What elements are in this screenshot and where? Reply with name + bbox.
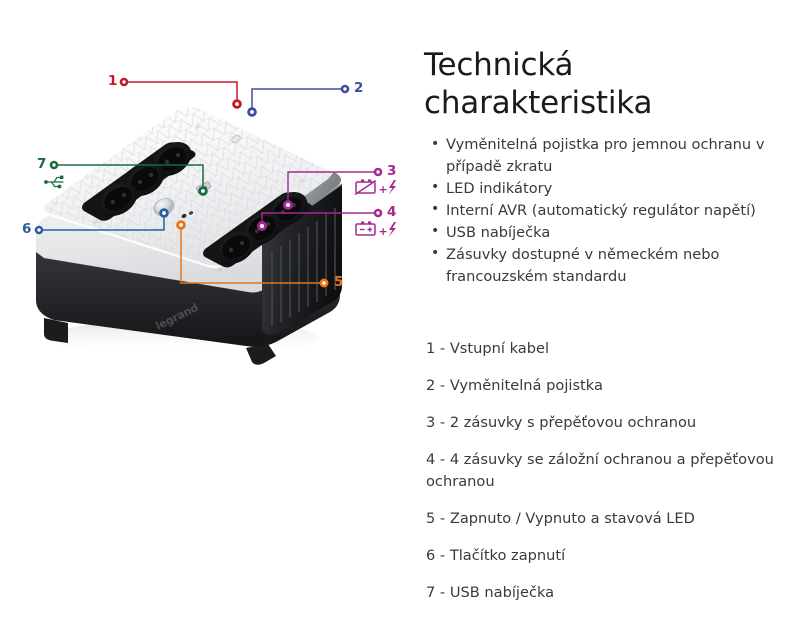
callout-dot-4-end <box>257 221 267 231</box>
feature-list-item: Zásuvky dostupné v německém nebo francou… <box>427 244 799 287</box>
legend-item-1: 1 - Vstupní kabel <box>426 338 800 359</box>
callout-leader-1 <box>126 82 237 101</box>
legend-item-2: 2 - Vyměnitelná pojistka <box>426 375 800 396</box>
legend-item-5: 5 - Zapnuto / Vypnuto a stavová LED <box>426 508 800 529</box>
specification-text-panel: Technická charakteristika Vyměnitelná po… <box>424 0 800 640</box>
battery-surge-icon: + <box>356 221 396 238</box>
feature-list: Vyměnitelná pojistka pro jemnou ochranu … <box>427 134 799 288</box>
product-illustration-panel: FR FR DE DE legrand <box>0 0 410 640</box>
legend-item-6: 6 - Tlačítko zapnutí <box>426 545 800 566</box>
callout-dot-2-start <box>341 85 350 94</box>
callout-label-3[interactable]: 3 <box>387 165 396 179</box>
callout-label-2[interactable]: 2 <box>354 82 363 96</box>
legend-item-7: 7 - USB nabíječka <box>426 582 800 603</box>
product-spec-page: FR FR DE DE legrand <box>0 0 800 640</box>
feature-list-item: LED indikátory <box>427 178 799 200</box>
svg-text:+: + <box>379 183 388 196</box>
callout-dot-6-end <box>159 208 169 218</box>
svg-text:+: + <box>379 225 388 238</box>
callout-label-1[interactable]: 1 <box>108 75 117 89</box>
ups-device-drawing: FR FR DE DE legrand <box>0 0 410 400</box>
callout-leader-2 <box>252 89 343 110</box>
legend-item-3: 3 - 2 zásuvky s přepěťovou ochranou <box>426 412 800 433</box>
surge-only-icon: + <box>355 179 396 196</box>
callout-dot-3-end <box>283 200 293 210</box>
usb-charger-icon <box>44 176 63 189</box>
feature-list-item: Interní AVR (automatický regulátor napět… <box>427 200 799 222</box>
feature-list-item: Vyměnitelná pojistka pro jemnou ochranu … <box>427 134 799 177</box>
callout-label-6[interactable]: 6 <box>22 223 31 237</box>
callout-dot-1-start <box>120 78 129 87</box>
callout-dot-1-end <box>232 99 242 109</box>
callout-legend-list: 1 - Vstupní kabel 2 - Vyměnitelná pojist… <box>426 338 800 619</box>
ups-product-figure: FR FR DE DE legrand <box>0 0 410 400</box>
callout-label-4[interactable]: 4 <box>387 206 396 220</box>
callout-dot-4-start <box>374 209 383 218</box>
callout-label-7[interactable]: 7 <box>37 158 46 172</box>
callout-dot-7-start <box>50 161 59 170</box>
legend-item-4: 4 - 4 zásuvky se záložní ochranou a přep… <box>426 449 800 491</box>
callout-dot-6-start <box>35 226 44 235</box>
feature-list-item: USB nabíječka <box>427 222 799 244</box>
callout-dot-7-end <box>198 186 208 196</box>
callout-label-5[interactable]: 5 <box>334 276 343 290</box>
callout-dot-2-end <box>247 107 257 117</box>
page-title: Technická charakteristika <box>424 47 794 123</box>
callout-dot-5-end <box>176 220 186 230</box>
callout-dot-3-start <box>374 168 383 177</box>
callout-dot-5-start <box>320 279 329 288</box>
